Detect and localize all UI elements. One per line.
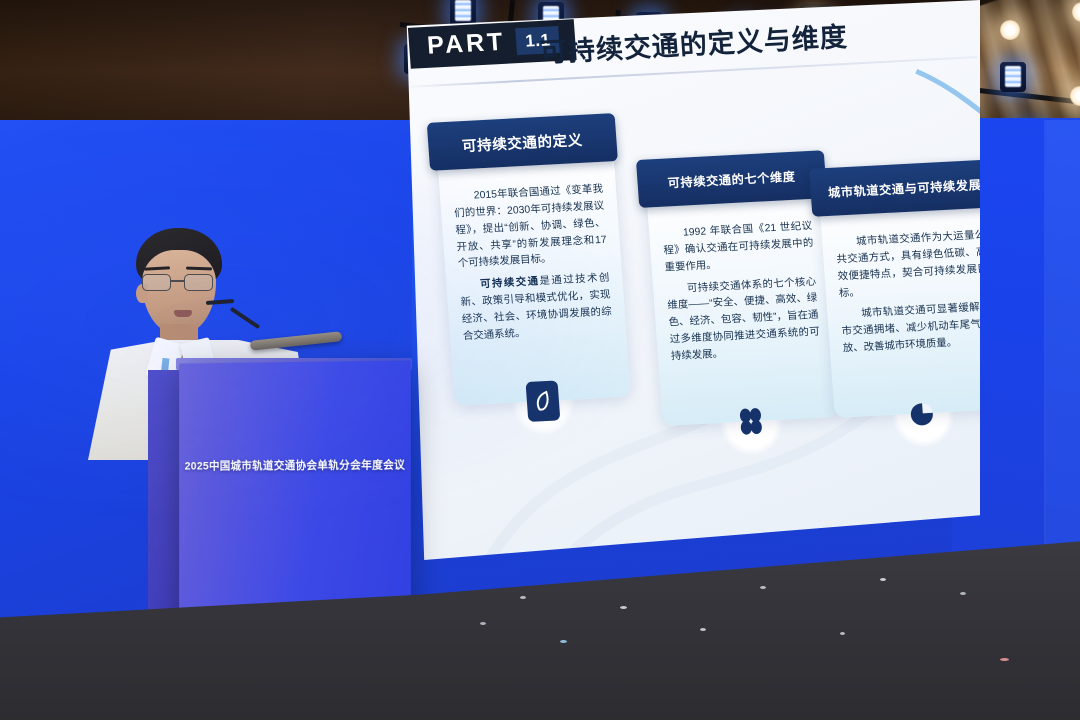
conference-stage-photo: PART 1.1 可持续交通的定义与维度 可持续交通的定义 2015年联合国通过… <box>0 0 1080 720</box>
glasses-bridge <box>171 280 184 282</box>
slide-card-definition: 可持续交通的定义 2015年联合国通过《变革我们的世界：2030年可持续发展议程… <box>437 139 631 405</box>
card-title: 城市轨道交通与可持续发展 <box>809 159 1000 217</box>
part-label: PART <box>426 30 506 59</box>
glasses-lens <box>184 274 213 291</box>
projection-screen: PART 1.1 可持续交通的定义与维度 可持续交通的定义 2015年联合国通过… <box>398 0 980 580</box>
glasses-icon <box>140 274 220 292</box>
podium-banner-text: 2025中国城市轨道交通协会单轨分会年度会议 <box>179 457 411 473</box>
slide-card-dimensions: 可持续交通的七个维度 1992 年联合国《21 世纪议程》确认交通在可持续发展中… <box>646 176 839 425</box>
card-paragraph: 1992 年联合国《21 世纪议程》确认交通在可持续发展中的重要作用。 <box>662 219 815 277</box>
speaker-mouth <box>174 310 192 317</box>
card-paragraph: 可持续交通是通过技术创新、政策引导和模式优化，实现经济、社会、环境协调发展的综合… <box>459 271 614 346</box>
icon-chip <box>525 380 560 422</box>
card-title: 可持续交通的定义 <box>427 113 618 171</box>
card-title: 可持续交通的七个维度 <box>636 150 827 208</box>
slide-content: PART 1.1 可持续交通的定义与维度 可持续交通的定义 2015年联合国通过… <box>390 0 1011 561</box>
card-paragraph: 城市轨道交通作为大运量公共交通方式，具有绿色低碳、高效便捷特点，契合可持续发展目… <box>835 228 990 303</box>
leaf-icon <box>519 374 567 428</box>
clover-icon <box>727 394 775 448</box>
card-paragraph: 可持续交通体系的七个核心维度——“安全、便捷、高效、绿色、经济、包容、韧性”，旨… <box>666 274 822 366</box>
screen-surface: PART 1.1 可持续交通的定义与维度 可持续交通的定义 2015年联合国通过… <box>398 0 980 560</box>
blue-stage-light-icon <box>1000 62 1026 92</box>
card-paragraph: 城市轨道交通可显著缓解城市交通拥堵、减少机动车尾气排放、改善城市环境质量。 <box>840 300 993 358</box>
white-spotlight-icon <box>1000 20 1020 40</box>
card-body: 城市轨道交通作为大运量公共交通方式，具有绿色低碳、高效便捷特点，契合可持续发展目… <box>835 228 994 358</box>
card-body: 1992 年联合国《21 世纪议程》确认交通在可持续发展中的重要作用。 可持续交… <box>662 219 822 366</box>
pie-doc-icon <box>899 386 947 440</box>
glasses-lens <box>142 274 171 291</box>
card-paragraph: 2015年联合国通过《变革我们的世界：2030年可持续发展议程》，提出“创新、协… <box>453 182 609 274</box>
speaker-face <box>142 250 216 334</box>
card-body: 2015年联合国通过《变革我们的世界：2030年可持续发展议程》，提出“创新、协… <box>453 182 614 346</box>
card-bold-lead: 可持续交通 <box>480 276 540 290</box>
